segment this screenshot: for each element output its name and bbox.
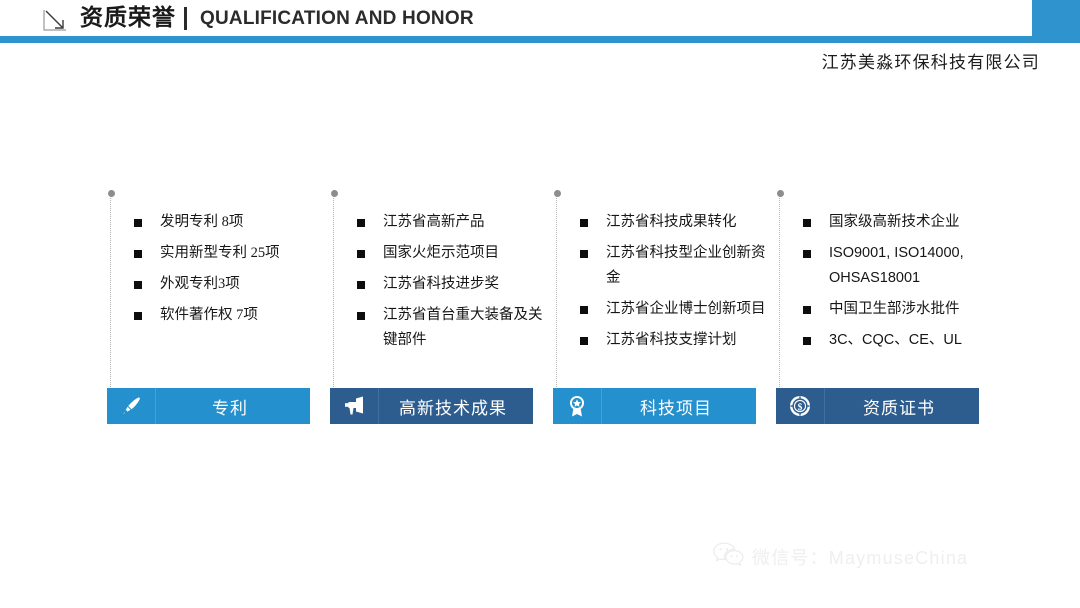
category-bar-label: 专利: [156, 394, 310, 419]
list-item: 实用新型专利 25项: [132, 241, 332, 266]
list-item: 软件著作权 7项: [132, 303, 332, 328]
column-dot: [108, 190, 115, 197]
column-divider-line: [779, 190, 781, 395]
wechat-watermark: 微信号：MaymuseChina: [712, 540, 968, 573]
column-dot: [554, 190, 561, 197]
category-bar-label: 科技项目: [602, 394, 756, 419]
bullet-list: 国家级高新技术企业 ISO9001, ISO14000, OHSAS18001 …: [801, 210, 1001, 359]
list-item: 江苏省科技支撑计划: [578, 328, 778, 353]
list-item: 中国卫生部涉水批件: [801, 297, 1001, 322]
award-ribbon-icon: [553, 388, 602, 424]
pen-nib-icon: [107, 388, 156, 424]
column-dot: [331, 190, 338, 197]
svg-text:$: $: [798, 402, 803, 413]
list-item: 江苏省首台重大装备及关键部件: [355, 303, 555, 353]
category-bar-qualification-certificates[interactable]: $ 资质证书: [776, 388, 979, 424]
list-item: 发明专利 8项: [132, 210, 332, 235]
category-bar-label: 高新技术成果: [379, 394, 533, 419]
bullet-list: 江苏省高新产品 国家火炬示范项目 江苏省科技进步奖 江苏省首台重大装备及关键部件: [355, 210, 555, 359]
dollar-coin-icon: $: [776, 388, 825, 424]
list-item: 国家级高新技术企业: [801, 210, 1001, 235]
column-divider-line: [333, 190, 335, 395]
bullet-list: 发明专利 8项 实用新型专利 25项 外观专利3项 软件著作权 7项: [132, 210, 332, 334]
bullet-list: 江苏省科技成果转化 江苏省科技型企业创新资金 江苏省企业博士创新项目 江苏省科技…: [578, 210, 778, 359]
category-bar-tech-projects[interactable]: 科技项目: [553, 388, 756, 424]
list-item: 江苏省科技成果转化: [578, 210, 778, 235]
list-item: 江苏省高新产品: [355, 210, 555, 235]
column-divider-line: [110, 190, 112, 395]
category-bar-label: 资质证书: [825, 394, 979, 419]
list-item: ISO9001, ISO14000, OHSAS18001: [801, 241, 1001, 291]
list-item: 江苏省科技型企业创新资金: [578, 241, 778, 291]
list-item: 国家火炬示范项目: [355, 241, 555, 266]
category-bar-hi-tech-achievements[interactable]: 高新技术成果: [330, 388, 533, 424]
list-item: 江苏省科技进步奖: [355, 272, 555, 297]
list-item: 外观专利3项: [132, 272, 332, 297]
column-dot: [777, 190, 784, 197]
category-bar-patents[interactable]: 专利: [107, 388, 310, 424]
wechat-icon: [712, 540, 746, 573]
column-divider-line: [556, 190, 558, 395]
qualification-columns: 发明专利 8项 实用新型专利 25项 外观专利3项 软件著作权 7项 江苏省高新…: [0, 0, 1080, 608]
list-item: 3C、CQC、CE、UL: [801, 328, 1001, 353]
megaphone-icon: [330, 388, 379, 424]
list-item: 江苏省企业博士创新项目: [578, 297, 778, 322]
watermark-text: 微信号：MaymuseChina: [752, 544, 968, 570]
